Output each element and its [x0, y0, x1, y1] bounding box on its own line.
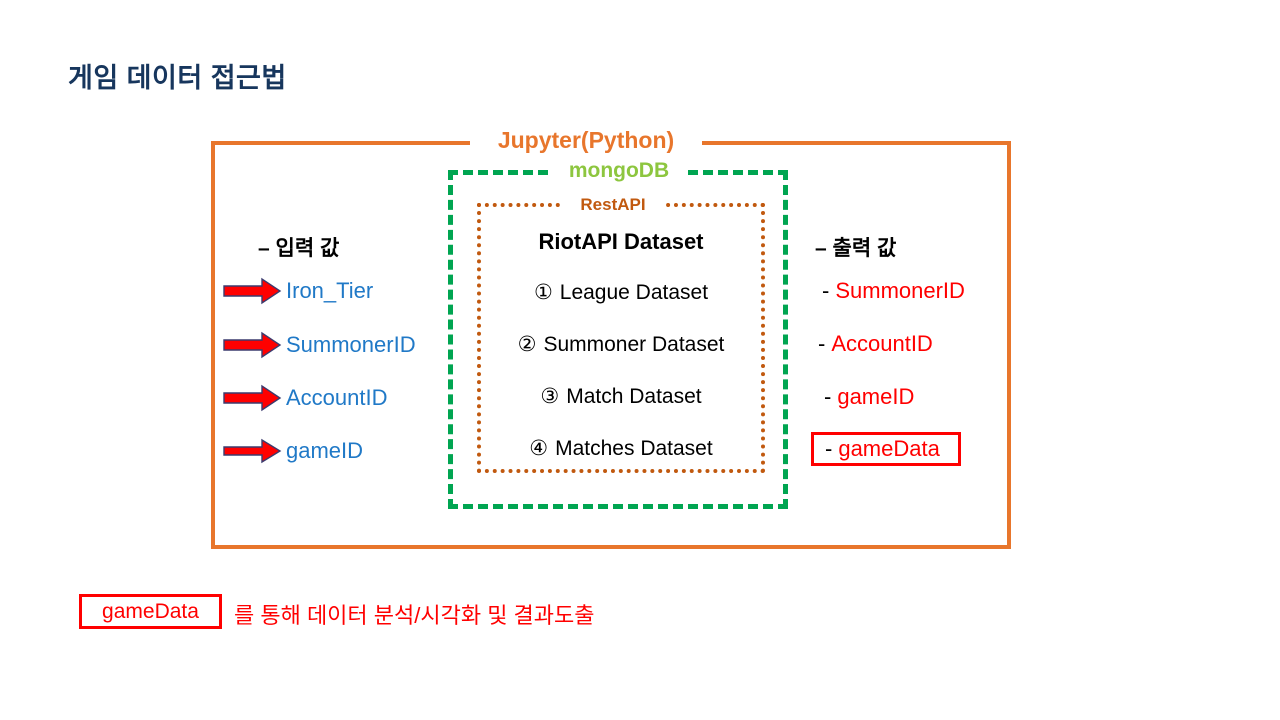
dataset-item-label: Match Dataset [566, 385, 701, 408]
output-row: -AccountID [818, 331, 933, 357]
dataset-item-label: Matches Dataset [555, 437, 713, 460]
input-label: AccountID [286, 385, 388, 411]
right-arrow-icon [222, 436, 282, 466]
mongodb-label: mongoDB [552, 159, 686, 183]
right-arrow-icon [222, 383, 282, 413]
right-arrow-icon [222, 330, 282, 360]
caption-badge: gameData [79, 594, 222, 629]
dataset-item-number: ④ [529, 437, 548, 460]
input-row: SummonerID [222, 328, 416, 362]
input-row: AccountID [222, 381, 388, 415]
input-label: gameID [286, 438, 363, 464]
restapi-label: RestAPI [563, 195, 663, 215]
output-label: gameData [838, 436, 940, 462]
input-label: SummonerID [286, 332, 416, 358]
caption-text: 를 통해 데이터 분석/시각화 및 결과도출 [234, 598, 595, 630]
dataset-item-label: Summoner Dataset [543, 333, 724, 356]
output-section-header: – 출력 값 [815, 232, 896, 262]
page-title: 게임 데이터 접근법 [68, 56, 287, 95]
slide-canvas: 게임 데이터 접근법 Jupyter(Python) mongoDB RestA… [0, 0, 1280, 720]
output-row: -gameID [824, 384, 914, 410]
dataset-item-label: League Dataset [560, 281, 708, 304]
dataset-item: ④Matches Dataset [477, 436, 765, 461]
right-arrow-icon [222, 276, 282, 306]
dataset-title: RiotAPI Dataset [477, 229, 765, 255]
dataset-item: ①League Dataset [477, 280, 765, 305]
dataset-item-number: ① [534, 281, 553, 304]
output-row: -SummonerID [822, 278, 965, 304]
output-label: AccountID [831, 331, 933, 356]
input-row: Iron_Tier [222, 274, 373, 308]
input-row: gameID [222, 434, 363, 468]
output-label: gameID [837, 384, 914, 409]
output-dash: - [818, 331, 825, 356]
output-row-highlighted: -gameData [811, 432, 961, 466]
output-label: SummonerID [835, 278, 965, 303]
output-dash: - [824, 384, 831, 409]
dataset-item: ②Summoner Dataset [477, 332, 765, 357]
jupyter-label: Jupyter(Python) [470, 127, 702, 154]
dataset-item-number: ② [518, 333, 537, 356]
output-dash: - [822, 278, 829, 303]
output-dash: - [825, 436, 832, 462]
dataset-item-number: ③ [540, 385, 559, 408]
dataset-item: ③Match Dataset [477, 384, 765, 409]
input-section-header: – 입력 값 [258, 232, 339, 262]
input-label: Iron_Tier [286, 278, 373, 304]
